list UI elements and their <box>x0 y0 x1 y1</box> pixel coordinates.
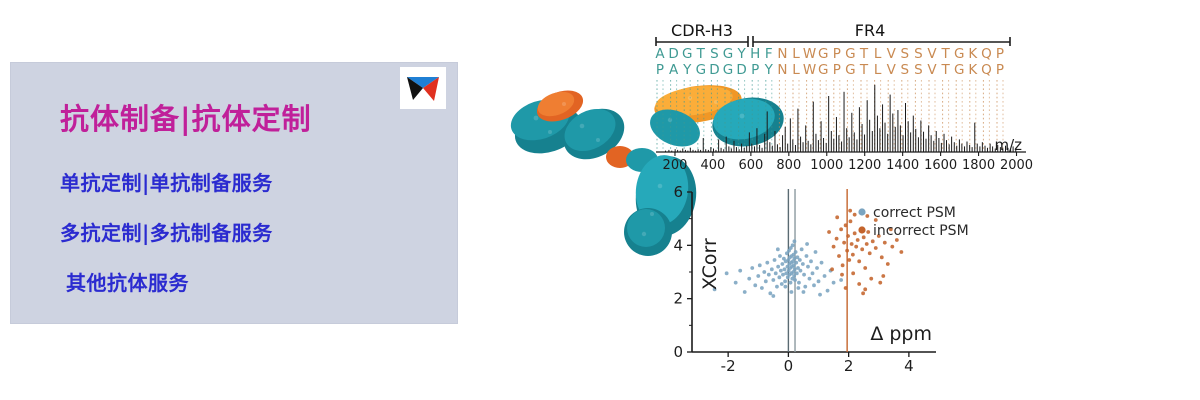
scatter-point <box>845 249 849 253</box>
scatter-point <box>789 281 793 285</box>
scatter-point <box>835 215 839 219</box>
scatter-point <box>780 262 784 266</box>
residue-letter: G <box>723 46 733 62</box>
residue-letter: T <box>940 46 950 62</box>
residue-letter: K <box>968 62 978 78</box>
residue-letter: W <box>803 46 816 62</box>
scatter-point <box>899 250 903 254</box>
spectrum-x-tick-label: 800 <box>776 158 801 173</box>
scatter-point <box>869 277 873 281</box>
scatter-point <box>770 267 774 271</box>
scatter-point <box>781 273 785 277</box>
scatter-y-tick-label: 6 <box>673 183 683 201</box>
scatter-point <box>861 291 865 295</box>
residue-letter: T <box>696 46 706 62</box>
scatter-x-tick-label: 4 <box>904 357 914 375</box>
scatter-point <box>768 291 772 295</box>
residue-letter: F <box>765 46 773 62</box>
scatter-point <box>863 287 867 291</box>
scatter-point <box>796 286 800 290</box>
scatter-point <box>850 242 854 246</box>
scatter-point <box>762 270 766 274</box>
scatter-point <box>765 261 769 265</box>
spectrum-x-tick-label: 1000 <box>810 158 843 173</box>
residue-letter: G <box>818 62 828 78</box>
scatter-point <box>743 290 747 294</box>
scatter-point <box>853 213 857 217</box>
scatter-point <box>883 241 887 245</box>
region-label-fr4: FR4 <box>855 21 886 40</box>
scatter-point <box>880 255 884 259</box>
residue-letter: Y <box>682 62 692 78</box>
residue-letter: D <box>736 62 746 78</box>
scatter-point <box>776 265 780 269</box>
residue-letter: P <box>656 62 664 78</box>
scatter-point <box>805 254 809 258</box>
scatter-point <box>771 278 775 282</box>
residue-letter: T <box>940 62 950 78</box>
scatter-point <box>738 269 742 273</box>
residue-letter: S <box>710 46 719 62</box>
residue-letter: Y <box>764 62 774 78</box>
scatter-point <box>846 234 850 238</box>
sequence-row-1: ADGTSGYHFNLWGPGTLVSSVTGKQP <box>655 46 1004 62</box>
scatter-point <box>820 261 824 265</box>
scatter-point <box>780 282 784 286</box>
scatter-point <box>808 277 812 281</box>
residue-letter: L <box>792 46 800 62</box>
scatter-point <box>760 286 764 290</box>
scatter-point <box>803 285 807 289</box>
residue-letter: S <box>914 62 923 78</box>
scatter-point <box>863 266 867 270</box>
residue-letter: G <box>845 62 855 78</box>
scatter-point <box>815 266 819 270</box>
scatter-point <box>851 253 855 257</box>
scatter-point <box>795 271 799 275</box>
residue-letter: G <box>954 62 964 78</box>
residue-letter: D <box>668 46 678 62</box>
spectrum-x-tick-label: 1400 <box>886 158 919 173</box>
residue-letter: L <box>874 46 882 62</box>
scatter-point <box>793 239 797 243</box>
scatter-point <box>802 290 806 294</box>
scatter-point <box>862 235 866 239</box>
scatter-point <box>823 274 827 278</box>
residue-letter: P <box>833 46 841 62</box>
residue-letter: S <box>901 46 910 62</box>
scatter-point <box>853 231 857 235</box>
tricolor-chevron-logo <box>400 67 446 109</box>
scatter-point <box>794 261 798 265</box>
spectrum-x-tick-label: 1600 <box>924 158 957 173</box>
figure-canvas: CDR-H3 FR4 ADGTSGYHFNLWGPGTLVSSVTGKQP PA… <box>470 0 1200 400</box>
scatter-point <box>857 259 861 263</box>
scatter-point <box>881 274 885 278</box>
scatter-point <box>827 230 831 234</box>
residue-letter: V <box>887 46 897 62</box>
residue-letter: V <box>927 62 937 78</box>
scatter-point <box>793 267 797 271</box>
scatter-point <box>832 245 836 249</box>
scatter-point <box>841 263 845 267</box>
scatter-y-tick-label: 0 <box>673 343 683 361</box>
spectrum-x-axis-label: m/z <box>994 136 1022 154</box>
scatter-point <box>793 278 797 282</box>
scatter-point <box>753 283 757 287</box>
research-figure: CDR-H3 FR4 ADGTSGYHFNLWGPGTLVSSVTGKQP PA… <box>470 0 1200 400</box>
scatter-point <box>854 245 858 249</box>
legend-label-incorrect: incorrect PSM <box>873 223 969 239</box>
scatter-point <box>725 271 729 275</box>
residue-letter: A <box>669 62 679 78</box>
scatter-point <box>798 258 802 262</box>
scatter-point <box>750 266 754 270</box>
scatter-point <box>794 250 798 254</box>
scatter-x-tick-label: 0 <box>784 357 794 375</box>
scatter-point <box>771 294 775 298</box>
scatter-point <box>832 281 836 285</box>
scatter-point <box>783 285 787 289</box>
scatter-point <box>857 282 861 286</box>
spectrum-x-tick-label: 400 <box>701 158 726 173</box>
sequence-region-brackets: CDR-H3 FR4 <box>656 21 1010 47</box>
scatter-points-correct-psm <box>713 239 843 297</box>
scatter-y-axis-label: XCorr <box>699 238 721 290</box>
scatter-point <box>814 250 818 254</box>
scatter-point <box>830 267 834 271</box>
residue-letter: Q <box>981 46 992 62</box>
page-title: 抗体制备|抗体定制 <box>60 96 312 138</box>
scatter-point <box>779 269 783 273</box>
scatter-threshold-lines <box>788 189 847 352</box>
scatter-point <box>776 247 780 251</box>
scatter-point <box>811 271 815 275</box>
residue-letter: T <box>859 46 869 62</box>
residue-letter: G <box>682 46 692 62</box>
residue-letter: N <box>777 46 787 62</box>
residue-letter: V <box>887 62 897 78</box>
scatter-point <box>778 254 782 258</box>
scatter-point <box>890 245 894 249</box>
scatter-point <box>871 239 875 243</box>
residue-letter: G <box>818 46 828 62</box>
scatter-point <box>747 277 751 281</box>
scatter-point <box>848 209 852 213</box>
scatter-point <box>791 243 795 247</box>
scatter-point <box>783 267 787 271</box>
scatter-x-axis-label: Δ ppm <box>870 323 932 345</box>
scatter-point <box>844 286 848 290</box>
spectrum-x-tick-label: 1200 <box>848 158 881 173</box>
residue-letter: Y <box>736 46 746 62</box>
residue-letter: V <box>927 46 937 62</box>
scatter-point <box>777 275 781 279</box>
scatter-point <box>844 223 848 227</box>
scatter-point <box>849 219 853 223</box>
spectrum-x-tick-label: 1800 <box>962 158 995 173</box>
scatter-point <box>767 273 771 277</box>
residue-letter: K <box>968 46 978 62</box>
scatter-point <box>812 283 816 287</box>
scatter-point <box>842 241 846 245</box>
scatter-point <box>865 214 869 218</box>
scatter-point <box>774 271 778 275</box>
scatter-point <box>835 237 839 241</box>
panel-link-other-services[interactable]: 其他抗体服务 <box>66 267 189 296</box>
scatter-point <box>826 289 830 293</box>
region-label-cdrh3: CDR-H3 <box>671 21 733 40</box>
scatter-point <box>840 273 844 277</box>
residue-letter: G <box>845 46 855 62</box>
scatter-point <box>868 251 872 255</box>
residue-letter: P <box>833 62 841 78</box>
scatter-point <box>734 281 738 285</box>
residue-letter: P <box>751 62 759 78</box>
scatter-point <box>764 279 768 283</box>
panel-link-poly-antibody[interactable]: 多抗定制|多抗制备服务 <box>60 217 273 246</box>
residue-letter: D <box>709 62 719 78</box>
spectrum-x-tick-label: 2000 <box>1000 158 1033 173</box>
scatter-point <box>758 263 762 267</box>
antibody-service-panel: 抗体制备|抗体定制 单抗定制|单抗制备服务 多抗定制|多抗制备服务 其他抗体服务 <box>10 62 458 324</box>
scatter-point <box>806 265 810 269</box>
residue-letter: P <box>996 46 1004 62</box>
residue-letter: L <box>874 62 882 78</box>
scatter-point <box>783 279 787 283</box>
scatter-point <box>775 285 779 289</box>
spectrum-x-tick-label: 200 <box>663 158 688 173</box>
scatter-point <box>817 279 821 283</box>
scatter-point <box>856 238 860 242</box>
scatter-y-tick-label: 2 <box>673 290 683 308</box>
scatter-point <box>799 269 803 273</box>
scatter-point <box>886 262 890 266</box>
scatter-point <box>860 247 864 251</box>
residue-letter: N <box>777 62 787 78</box>
scatter-point <box>800 247 804 251</box>
residue-letter: L <box>792 62 800 78</box>
scatter-point <box>847 258 851 262</box>
spectrum-x-tick-label: 600 <box>738 158 763 173</box>
legend-marker-incorrect <box>858 226 865 233</box>
panel-link-mono-antibody[interactable]: 单抗定制|单抗制备服务 <box>60 167 273 196</box>
scatter-point <box>866 230 870 234</box>
scatter-point <box>802 273 806 277</box>
scatter-point <box>809 259 813 263</box>
scatter-x-tick-label: -2 <box>721 357 736 375</box>
residue-letter: T <box>859 62 869 78</box>
residue-letter: W <box>803 62 816 78</box>
scatter-point <box>801 262 805 266</box>
scatter-point <box>878 281 882 285</box>
scatter-points-incorrect-psm <box>827 209 903 295</box>
scatter-point <box>792 274 796 278</box>
residue-letter: P <box>996 62 1004 78</box>
residue-letter: G <box>954 46 964 62</box>
spectrum-x-ticks: 200400600800100012001400160018002000 <box>663 152 1033 173</box>
residue-letter: S <box>914 46 923 62</box>
scatter-y-tick-label: 4 <box>673 236 683 254</box>
residue-letter: H <box>750 46 760 62</box>
scatter-x-tick-label: 2 <box>844 357 854 375</box>
legend-label-correct: correct PSM <box>873 205 956 221</box>
residue-letter: Q <box>981 62 992 78</box>
scatter-point <box>837 254 841 258</box>
legend-marker-correct <box>858 208 865 215</box>
scatter-point <box>839 278 843 282</box>
scatter-point <box>839 227 843 231</box>
scatter-point <box>851 271 855 275</box>
scatter-point <box>773 258 777 262</box>
scatter-point <box>818 293 822 297</box>
scatter-point <box>874 246 878 250</box>
residue-letter: G <box>723 62 733 78</box>
scatter-point <box>790 290 794 294</box>
scatter-x-ticks: -2024 <box>721 352 914 375</box>
sequence-row-2: PAYGDGDPYNLWGPGTLVSSVTGKQP <box>656 62 1004 78</box>
residue-letter: G <box>696 62 706 78</box>
scatter-legend: correct PSM incorrect PSM <box>858 205 968 239</box>
scatter-point <box>865 242 869 246</box>
residue-letter: A <box>655 46 665 62</box>
psm-scatter-chart: 0246 -2024 XCorr Δ ppm correct PSM incor… <box>673 183 968 375</box>
scatter-point <box>756 274 760 278</box>
scatter-point <box>805 242 809 246</box>
scatter-point <box>797 281 801 285</box>
residue-letter: S <box>901 62 910 78</box>
